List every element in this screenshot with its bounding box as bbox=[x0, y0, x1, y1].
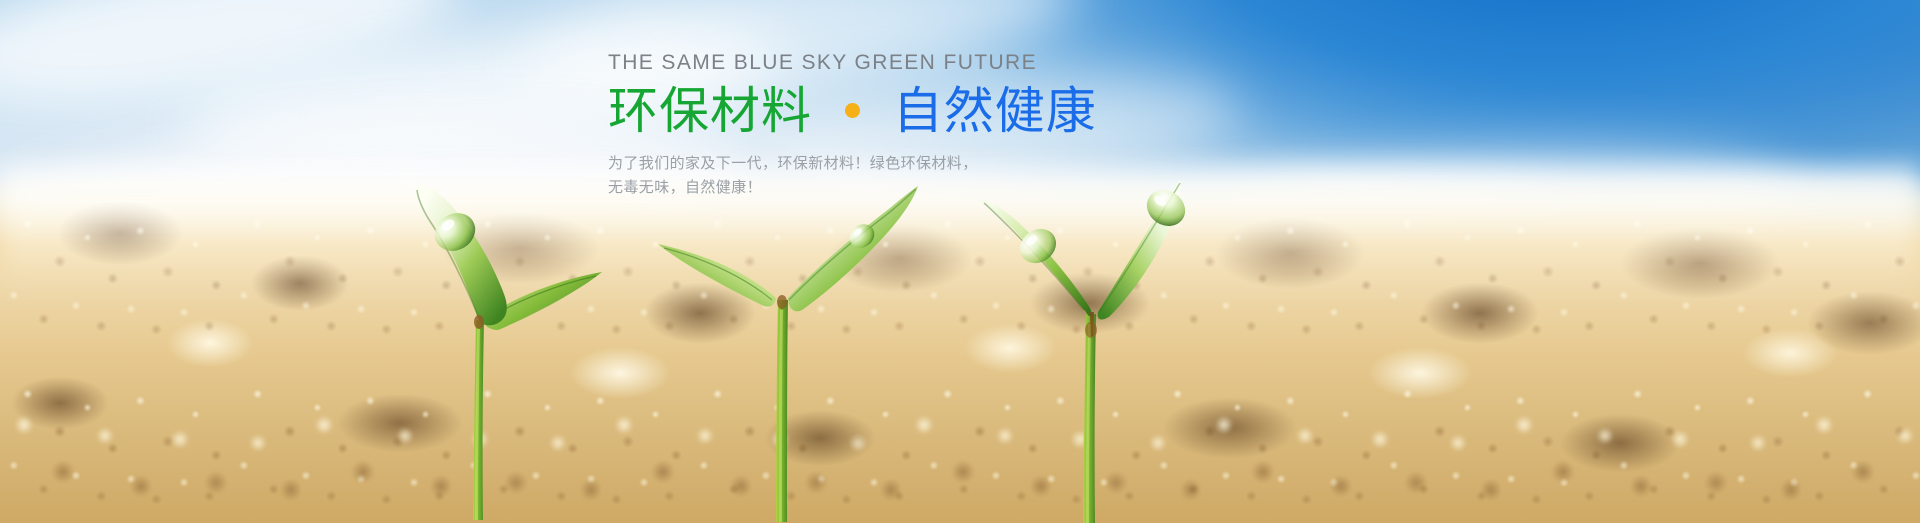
headline-blue-text: 自然健康 bbox=[893, 82, 1097, 140]
subtitle-line-2: 无毒无味，自然健康！ bbox=[608, 176, 1168, 199]
seedling-right bbox=[930, 170, 1260, 523]
page-title: 环保材料 自然健康 bbox=[608, 83, 1168, 139]
english-tagline: THE SAME BLUE SKY GREEN FUTURE bbox=[608, 50, 1168, 76]
subtitle-line-1: 为了我们的家及下一代，环保新材料！绿色环保材料， bbox=[608, 152, 1168, 175]
banner-copy: THE SAME BLUE SKY GREEN FUTURE 环保材料 自然健康… bbox=[608, 50, 1168, 199]
orange-dot-icon bbox=[845, 103, 860, 118]
subtitle-block: 为了我们的家及下一代，环保新材料！绿色环保材料， 无毒无味，自然健康！ bbox=[608, 152, 1168, 199]
seedling-left bbox=[330, 168, 660, 523]
headline-green-text: 环保材料 bbox=[608, 82, 812, 140]
hero-banner: THE SAME BLUE SKY GREEN FUTURE 环保材料 自然健康… bbox=[0, 0, 1920, 523]
seedling-center bbox=[640, 164, 960, 523]
